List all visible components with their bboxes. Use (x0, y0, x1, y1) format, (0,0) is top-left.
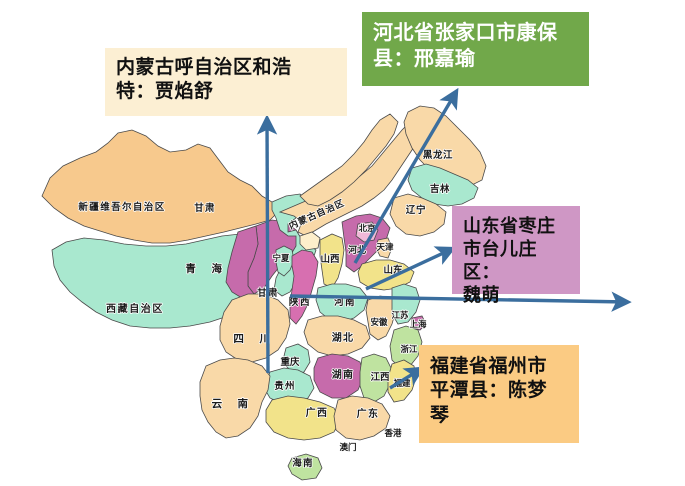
map-label-henan: 河南 (334, 296, 356, 308)
map-label-xinjiang: 新疆维吾尔自治区 (78, 201, 165, 213)
map-label-aomen: 澳门 (339, 442, 356, 453)
map-label-jiangsu: 江苏 (391, 310, 409, 321)
map-label-fujian-map: 福建 (392, 378, 411, 389)
map-label-beijing: 北京 (358, 223, 376, 234)
map-label-hubei: 湖北 (332, 331, 354, 344)
map-label-qinghai: 青 海 (185, 262, 224, 275)
map-label-xianggang: 香港 (383, 428, 402, 439)
map-label-gansu-north: 甘肃 (194, 202, 215, 214)
map-label-hebei-map: 河北 (348, 244, 366, 256)
map-label-yunnan: 云 南 (212, 397, 251, 410)
map-label-hainan: 海南 (292, 457, 313, 469)
map-label-chongqing: 重庆 (280, 356, 300, 368)
map-label-shaanxi: 陕西 (289, 296, 311, 308)
map-label-ningxia: 宁夏 (272, 253, 290, 264)
map-label-hunan: 湖南 (332, 368, 354, 381)
screenshot-root: 新疆维吾尔自治区西藏自治区青 海甘肃甘肃内蒙古自治区宁夏陕西山西河北北京天津山东… (0, 0, 685, 486)
map-label-shanxi: 山西 (320, 253, 340, 265)
map-label-gansu-south: 甘肃 (257, 287, 278, 299)
map-label-anhui: 安徽 (370, 317, 388, 328)
map-label-sichuan: 四 川 (233, 333, 272, 345)
map-label-shandong-map: 山东 (383, 264, 403, 276)
callout-fujian[interactable]: 福建省福州市 平潭县：陈梦 琴 (419, 345, 579, 443)
map-label-heilongjiang: 黑龙江 (423, 149, 453, 161)
map-label-guangxi: 广西 (306, 406, 329, 419)
map-label-xizang: 西藏自治区 (106, 302, 164, 315)
map-label-tianjin: 天津 (376, 242, 394, 253)
map-label-guangdong: 广东 (357, 407, 380, 420)
map-label-liaoning: 辽宁 (406, 204, 426, 216)
callout-shandong[interactable]: 山东省枣庄 市台儿庄区： 魏萌 (452, 206, 580, 294)
map-label-zhejiang: 浙江 (400, 344, 418, 355)
map-label-jiangxi: 江西 (370, 371, 390, 383)
callout-neimenggu[interactable]: 内蒙古呼自治区和浩 特：贾焰舒 (105, 48, 347, 116)
map-label-guizhou: 贵州 (274, 380, 295, 392)
map-label-jilin: 吉林 (430, 183, 450, 195)
callout-hebei[interactable]: 河北省张家口市康保 县：邢嘉瑜 (362, 12, 589, 86)
map-label-shanghai: 上海 (409, 319, 427, 330)
